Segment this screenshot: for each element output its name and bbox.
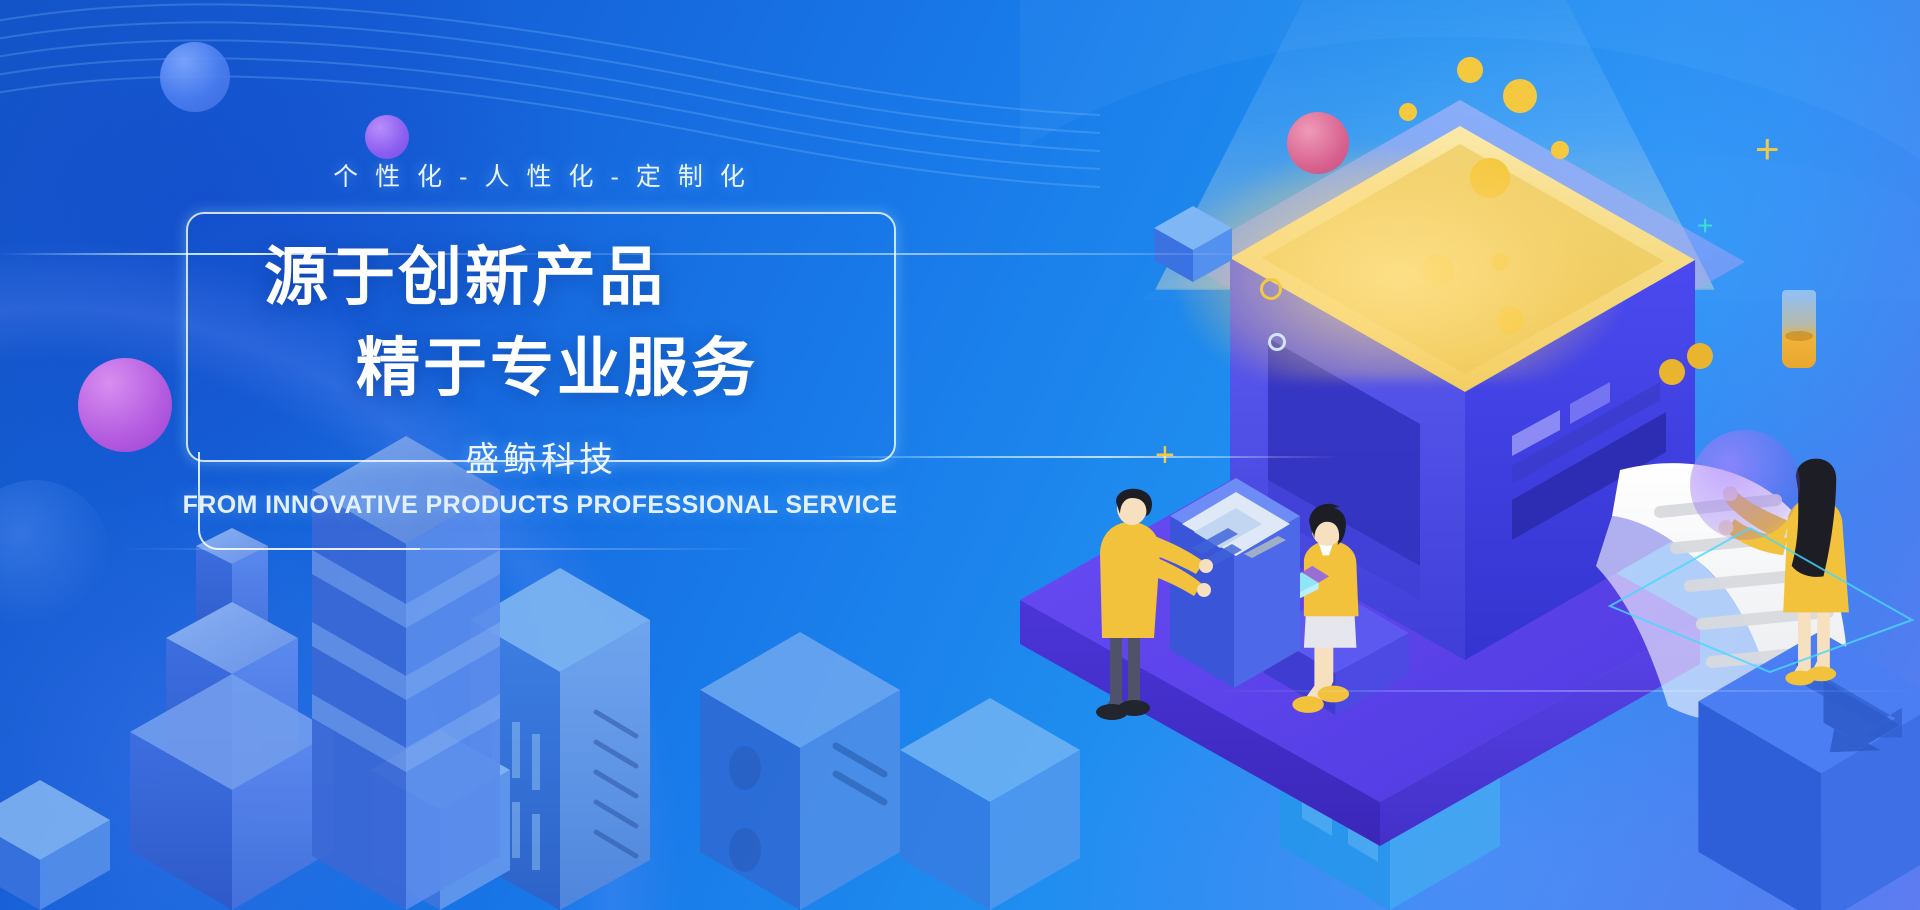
plus-gold-right: + [1755, 128, 1780, 170]
plus-gold-center: + [1155, 438, 1175, 472]
sphere-pink-right [1287, 112, 1349, 174]
sphere-violet-small [365, 115, 409, 159]
sphere-magenta-left [78, 358, 172, 452]
tagline: 个性化-人性化-定制化 [186, 157, 892, 193]
headline: 源于创新产品 精于专业服务 [186, 232, 892, 414]
cyan-outline-accent [1600, 510, 1920, 680]
ring-white [1268, 333, 1286, 351]
headline-line-2: 精于专业服务 [186, 323, 892, 414]
printer-top-glow [1180, 150, 1620, 380]
sphere-blue-top-left [160, 42, 230, 112]
test-tube-gold [1782, 290, 1816, 368]
floating-cube-small [1150, 200, 1236, 286]
ring-gold [1260, 278, 1282, 300]
subtitle-english: FROM INNOVATIVE PRODUCTS PROFESSIONAL SE… [150, 491, 930, 520]
plus-cyan-right: + [1697, 212, 1713, 240]
company-name: 盛鲸科技 [186, 432, 892, 481]
headline-line-1: 源于创新产品 [186, 232, 892, 323]
hero-banner: + + + 个性化-人性化-定制化 源于创新产品 精于专业服务 盛鲸科技 FRO… [0, 0, 1920, 910]
